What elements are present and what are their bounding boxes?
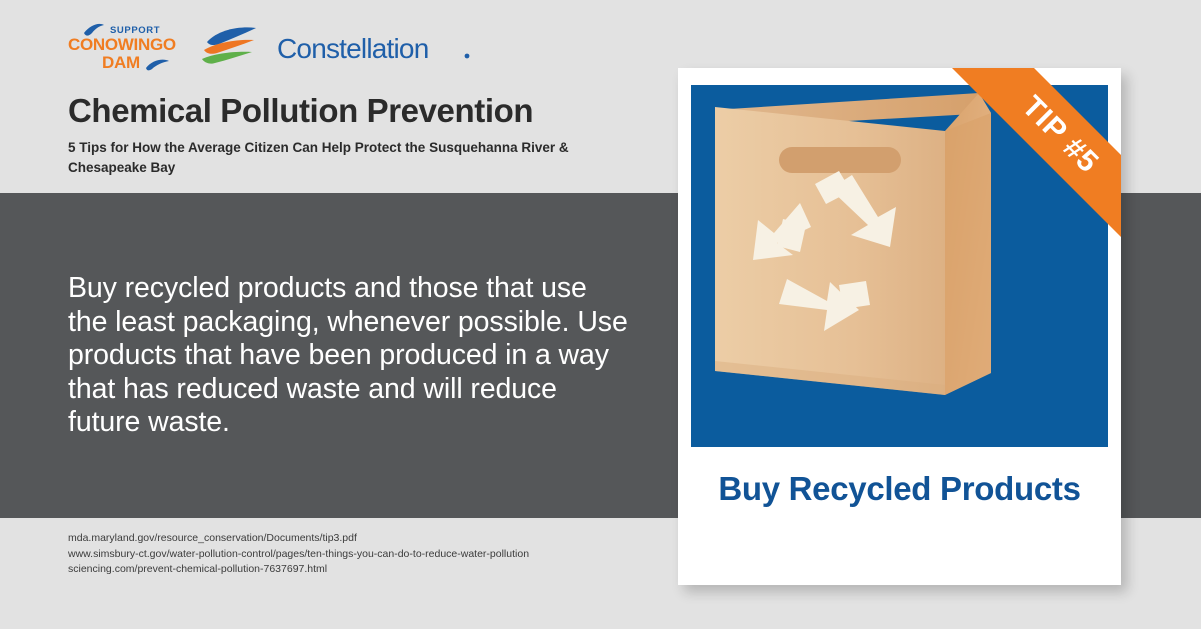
- source-link[interactable]: sciencing.com/prevent-chemical-pollution…: [68, 562, 529, 578]
- source-link[interactable]: mda.maryland.gov/resource_conservation/D…: [68, 531, 529, 547]
- sources-list: mda.maryland.gov/resource_conservation/D…: [68, 531, 529, 578]
- infographic-poster: SUPPORT CONOWINGO DAM Constellation Chem…: [0, 0, 1201, 629]
- constellation-swoosh-icon: [202, 27, 256, 63]
- constellation-wordmark: Constellation: [277, 33, 428, 64]
- tip-illustration-area: [691, 85, 1108, 447]
- constellation-logo: Constellation: [201, 26, 473, 66]
- tip-body-text: Buy recycled products and those that use…: [68, 272, 628, 440]
- eagle-icon-2: [146, 60, 169, 71]
- support-conowingo-dam-logo: SUPPORT CONOWINGO DAM: [68, 20, 184, 72]
- tip-caption: Buy Recycled Products: [691, 468, 1108, 509]
- svg-text:CONOWINGO: CONOWINGO: [68, 35, 176, 54]
- svg-text:DAM: DAM: [102, 53, 140, 72]
- trademark-dot: [465, 54, 470, 59]
- tip-photo-card: TIP #5 Buy Recycled Products: [678, 68, 1121, 585]
- page-subtitle: 5 Tips for How the Average Citizen Can H…: [68, 138, 628, 178]
- page-title: Chemical Pollution Prevention: [68, 92, 533, 130]
- source-link[interactable]: www.simsbury-ct.gov/water-pollution-cont…: [68, 547, 529, 563]
- paper-bag-icon: [691, 85, 1108, 447]
- eagle-icon: [84, 24, 104, 36]
